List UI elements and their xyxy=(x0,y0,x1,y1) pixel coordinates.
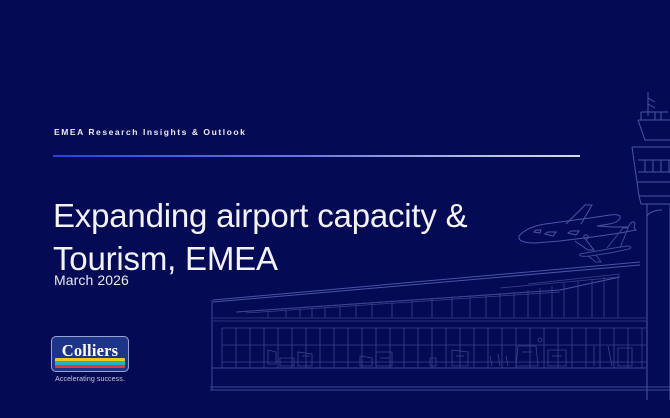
stripe-red xyxy=(55,365,125,368)
eyebrow-label: EMEA Research Insights & Outlook xyxy=(54,127,246,137)
divider-rule xyxy=(53,155,580,157)
logo-box: Colliers xyxy=(51,336,129,372)
colliers-logo[interactable]: Colliers Accelerating success. xyxy=(51,336,129,383)
logo-stripe-bar xyxy=(55,358,125,368)
logo-tagline: Accelerating success. xyxy=(51,376,129,383)
slide-content: EMEA Research Insights & Outlook Expandi… xyxy=(0,0,670,418)
title-slide: .ln { fill: none; stroke: #4a54a4; strok… xyxy=(0,0,670,418)
publication-date: March 2026 xyxy=(54,272,129,288)
page-title: Expanding airport capacity & Tourism, EM… xyxy=(53,194,523,280)
